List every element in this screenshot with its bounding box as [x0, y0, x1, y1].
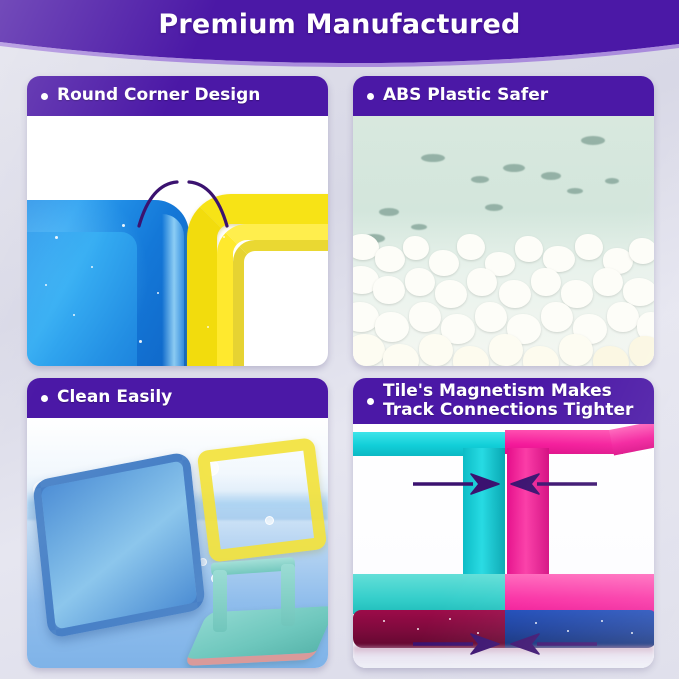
- panel-header: Tile's Magnetism Makes Track Connections…: [353, 378, 654, 424]
- corner-arc-accent: [137, 180, 229, 228]
- panel-abs-plastic-safer: ABS Plastic Safer: [353, 76, 654, 366]
- yellow-frame-tile: [197, 437, 328, 563]
- panel-title: ABS Plastic Safer: [383, 86, 548, 105]
- bullet-icon: [367, 398, 374, 405]
- bullet-icon: [367, 93, 374, 100]
- pink-tile-floor: [505, 574, 654, 614]
- teal-post-left: [213, 570, 227, 632]
- teal-base-plate: [184, 606, 328, 667]
- arrow-pair-bottom: [409, 630, 601, 658]
- panel-image-clean-easily: [27, 418, 328, 668]
- panel-round-corner-design: Round Corner Design: [27, 76, 328, 366]
- arrow-pair-top: [409, 470, 601, 498]
- page-title: Premium Manufactured: [0, 9, 679, 40]
- panel-title: Round Corner Design: [57, 86, 260, 105]
- bullet-icon: [41, 93, 48, 100]
- teal-tile-structure: [197, 558, 327, 663]
- teal-post-right: [281, 564, 295, 626]
- panel-clean-easily: Clean Easily: [27, 378, 328, 668]
- panel-image-magnetism: [353, 424, 654, 668]
- panel-image-abs-pellets: [353, 116, 654, 366]
- panel-header: ABS Plastic Safer: [353, 76, 654, 116]
- panel-title: Clean Easily: [57, 388, 172, 407]
- panel-header: Clean Easily: [27, 378, 328, 418]
- blue-tile-inner-face: [27, 232, 137, 366]
- panel-image-round-corner: [27, 116, 328, 366]
- panel-tile-magnetism: Tile's Magnetism Makes Track Connections…: [353, 378, 654, 668]
- blue-square-tile: [32, 451, 206, 639]
- feature-grid: Round Corner Design: [27, 76, 654, 668]
- teal-tile-floor: [353, 574, 505, 614]
- panel-title: Tile's Magnetism Makes Track Connections…: [383, 382, 633, 420]
- bullet-icon: [41, 395, 48, 402]
- panel-header: Round Corner Design: [27, 76, 328, 116]
- header-banner: Premium Manufactured: [0, 0, 679, 72]
